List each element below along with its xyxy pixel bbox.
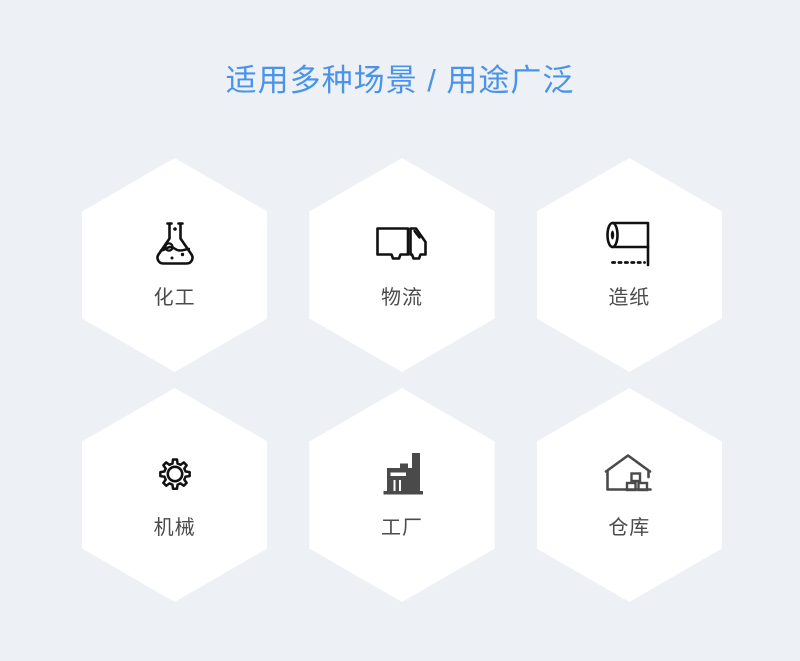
hex-label: 机械 — [154, 516, 196, 540]
hex-content: 化工 — [144, 216, 206, 310]
hex-cell-factory[interactable]: 工厂 — [309, 388, 494, 602]
hex-content: 物流 — [371, 216, 433, 310]
gear-icon — [144, 446, 206, 502]
hex-label: 物流 — [381, 286, 423, 310]
hex-cell-papermaking[interactable]: 造纸 — [537, 158, 722, 372]
hex-cell-chemical[interactable]: 化工 — [82, 158, 267, 372]
hex-content: 工厂 — [371, 446, 433, 540]
hexagon-row: 化工 物流 — [82, 158, 722, 372]
hex-label: 仓库 — [608, 516, 650, 540]
truck-icon — [371, 216, 433, 272]
hex-content: 机械 — [144, 446, 206, 540]
hex-cell-machinery[interactable]: 机械 — [82, 388, 267, 602]
factory-icon — [371, 446, 433, 502]
hex-content: 造纸 — [598, 216, 660, 310]
hex-cell-warehouse[interactable]: 仓库 — [537, 388, 722, 602]
page-title: 适用多种场景 / 用途广泛 — [0, 58, 800, 104]
flask-icon — [144, 216, 206, 272]
hex-cell-logistics[interactable]: 物流 — [309, 158, 494, 372]
hex-content: 仓库 — [598, 446, 660, 540]
hex-label: 化工 — [154, 286, 196, 310]
paper-roll-icon — [598, 216, 660, 272]
scenario-showcase-page: 适用多种场景 / 用途广泛 — [0, 0, 800, 661]
hex-label: 造纸 — [608, 286, 650, 310]
hexagon-grid: 化工 物流 — [82, 158, 722, 618]
hex-label: 工厂 — [381, 516, 423, 540]
warehouse-icon — [598, 446, 660, 502]
hexagon-row: 机械 工 — [82, 388, 722, 602]
